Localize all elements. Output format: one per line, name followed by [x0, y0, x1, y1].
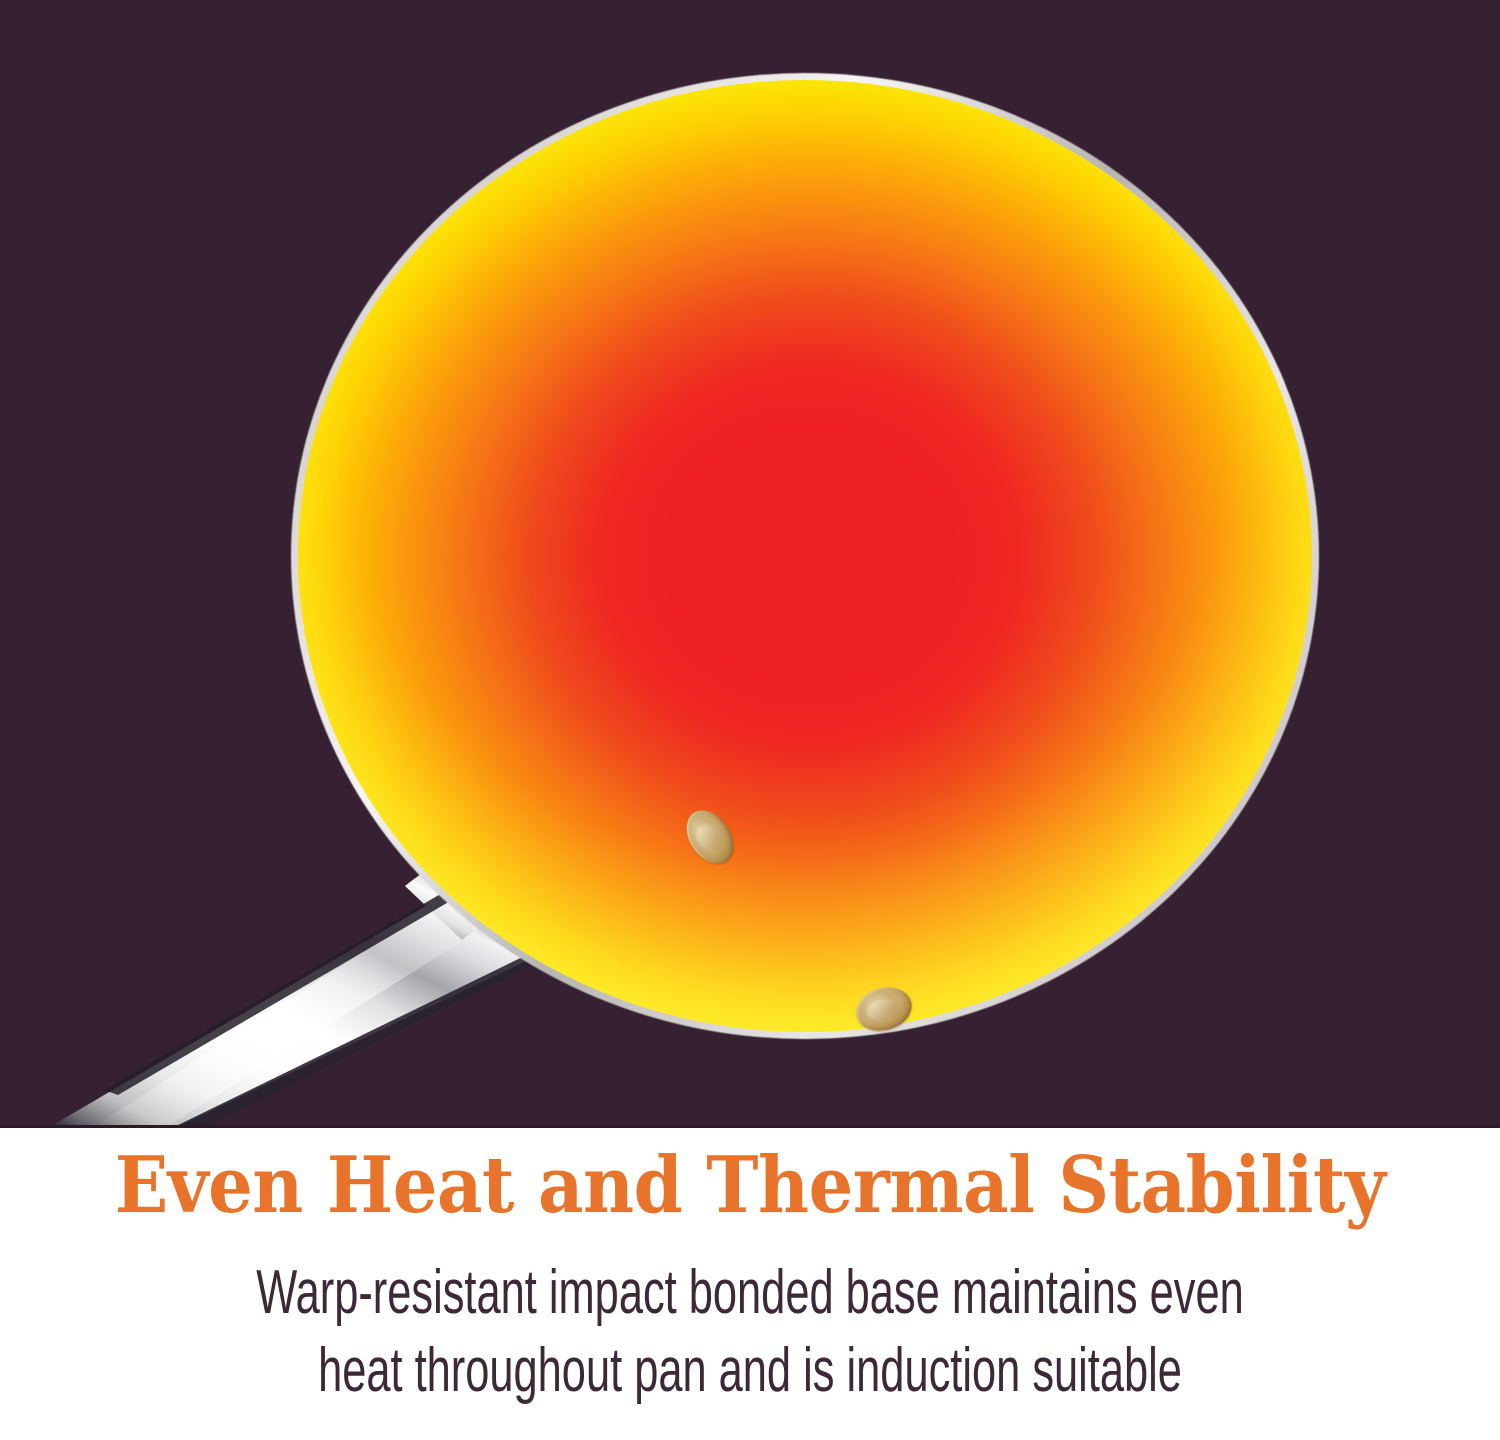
rivet-highlight [864, 995, 901, 1023]
feature-card: Even Heat and Thermal Stability Warp-res… [0, 0, 1500, 1440]
feature-headline: Even Heat and Thermal Stability [75, 1138, 1425, 1234]
rivet-highlight [692, 820, 727, 856]
pan-sheen [298, 80, 1312, 1032]
feature-description-line-1: Warp-resistant impact bonded base mainta… [256, 1258, 1243, 1327]
caption-block: Even Heat and Thermal Stability Warp-res… [0, 1128, 1500, 1440]
frying-pan [298, 80, 1312, 1032]
feature-description: Warp-resistant impact bonded base mainta… [225, 1254, 1275, 1410]
feature-description-line-2: heat throughout pan and is induction sui… [225, 1332, 1275, 1410]
hero-image-panel [0, 0, 1500, 1128]
